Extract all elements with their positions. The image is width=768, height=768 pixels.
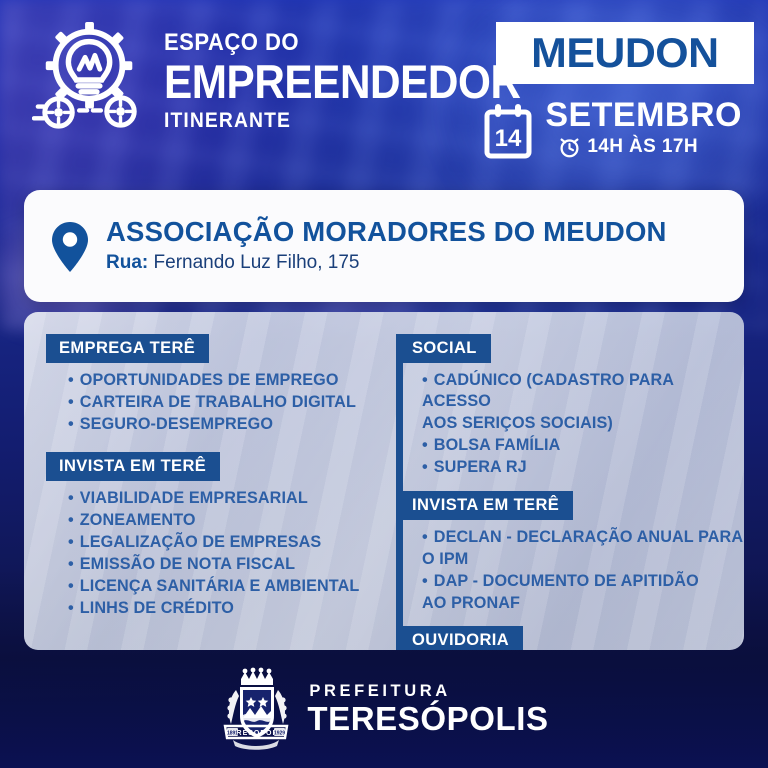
service-section-heading: EMPREGA TERÊ (46, 334, 209, 363)
svg-text:1891: 1891 (227, 731, 238, 737)
service-list: VIABILIDADE EMPRESARIALZONEAMENTOLEGALIZ… (46, 481, 396, 620)
service-list-item: DECLAN - DECLARAÇÃO ANUAL PARA (422, 527, 744, 549)
service-list-item: AOS SERIÇOS SOCIAIS) (422, 413, 744, 435)
service-section: EMPREGA TERÊOPORTUNIDADES DE EMPREGOCART… (46, 334, 396, 436)
service-list-item: CADÚNICO (CADASTRO PARA ACESSO (422, 370, 744, 413)
service-list: OPORTUNIDADES DE EMPREGOCARTEIRA DE TRAB… (46, 363, 396, 436)
event-logo: ESPAÇO DO EMPREENDEDOR ITINERANTE (32, 20, 560, 138)
service-section-heading: INVISTA EM TERÊ (46, 452, 220, 481)
venue-street-value: Fernando Luz Filho, 175 (154, 252, 360, 273)
logo-line-itinerante: ITINERANTE (164, 110, 528, 131)
poster-footer: TERESOPOLIS 1891 1929 PREFEITURA TERESÓP… (0, 650, 768, 768)
service-list-item: O IPM (422, 549, 744, 571)
teresopolis-coat-of-arms-icon: TERESOPOLIS 1891 1929 (219, 666, 293, 752)
column-accent-rule (396, 334, 403, 630)
venue-address-card: ASSOCIAÇÃO MORADORES DO MEUDON Rua: Fern… (24, 190, 744, 302)
footer-teresopolis: TERESÓPOLIS (307, 702, 548, 735)
service-list-item: SEGURO-DESEMPREGO (68, 414, 396, 436)
venue-street: Rua: Fernando Luz Filho, 175 (106, 251, 667, 275)
service-section: OUVIDORIAPRESENÇA E ATENDIMENTO DO SETOR (396, 626, 744, 651)
gear-lightbulb-wheels-icon (32, 20, 150, 138)
city-hall-wordmark: PREFEITURA TERESÓPOLIS (307, 683, 548, 735)
service-list: CADÚNICO (CADASTRO PARA ACESSOAOS SERIÇO… (396, 363, 744, 479)
service-list-item: LICENÇA SANITÁRIA E AMBIENTAL (68, 576, 396, 598)
service-list-item: SUPERA RJ (422, 457, 744, 479)
logo-line-empreendedor: EMPREENDEDOR (164, 57, 521, 107)
calendar-icon: 14 (483, 104, 533, 160)
service-list: DECLAN - DECLARAÇÃO ANUAL PARAO IPMDAP -… (396, 520, 744, 615)
services-panel: EMPREGA TERÊOPORTUNIDADES DE EMPREGOCART… (24, 312, 744, 650)
service-section-heading: OUVIDORIA (396, 626, 523, 651)
event-month: SETEMBRO (545, 98, 742, 134)
service-list-item: AO PRONAF (422, 593, 744, 615)
service-list-item: LEGALIZAÇÃO DE EMPRESAS (68, 532, 396, 554)
service-section: INVISTA EM TERÊVIABILIDADE EMPRESARIALZO… (46, 452, 396, 620)
services-column-left: EMPREGA TERÊOPORTUNIDADES DE EMPREGOCART… (24, 312, 396, 650)
service-list-item: VIABILIDADE EMPRESARIAL (68, 488, 396, 510)
service-section-heading: SOCIAL (396, 334, 491, 363)
calendar-day-number: 14 (495, 125, 522, 152)
location-pin-icon (50, 221, 90, 273)
services-columns: EMPREGA TERÊOPORTUNIDADES DE EMPREGOCART… (24, 312, 744, 650)
alarm-clock-icon (559, 136, 580, 159)
event-datetime: 14 SETEMBRO 14H ÀS 17H (483, 98, 742, 160)
service-list-item: DAP - DOCUMENTO DE APITIDÃO (422, 571, 744, 593)
event-time-label: 14H ÀS 17H (587, 136, 698, 158)
service-list-item: EMISSÃO DE NOTA FISCAL (68, 554, 396, 576)
neighborhood-badge: MEUDON (496, 22, 754, 84)
venue-street-label: Rua: (106, 252, 148, 273)
service-list-item: OPORTUNIDADES DE EMPREGO (68, 370, 396, 392)
poster-header: ESPAÇO DO EMPREENDEDOR ITINERANTE MEUDON… (0, 0, 768, 182)
neighborhood-badge-label: MEUDON (531, 29, 718, 77)
services-column-right: SOCIALCADÚNICO (CADASTRO PARA ACESSOAOS … (396, 312, 744, 650)
venue-name: ASSOCIAÇÃO MORADORES DO MEUDON (106, 217, 667, 248)
service-section-heading: INVISTA EM TERÊ (396, 491, 573, 520)
footer-prefeitura: PREFEITURA (309, 683, 548, 700)
svg-text:1929: 1929 (274, 731, 285, 737)
logo-line-espaco-do: ESPAÇO DO (164, 31, 528, 55)
event-time-row: 14H ÀS 17H (545, 136, 698, 159)
service-list-item: BOLSA FAMÍLIA (422, 435, 744, 457)
service-list-item: ZONEAMENTO (68, 510, 396, 532)
service-list-item: LINHS DE CRÉDITO (68, 598, 396, 620)
service-section: INVISTA EM TERÊDECLAN - DECLARAÇÃO ANUAL… (396, 491, 744, 615)
poster-canvas: ESPAÇO DO EMPREENDEDOR ITINERANTE MEUDON… (0, 0, 768, 768)
service-list-item: CARTEIRA DE TRABALHO DIGITAL (68, 392, 396, 414)
service-section: SOCIALCADÚNICO (CADASTRO PARA ACESSOAOS … (396, 334, 744, 479)
